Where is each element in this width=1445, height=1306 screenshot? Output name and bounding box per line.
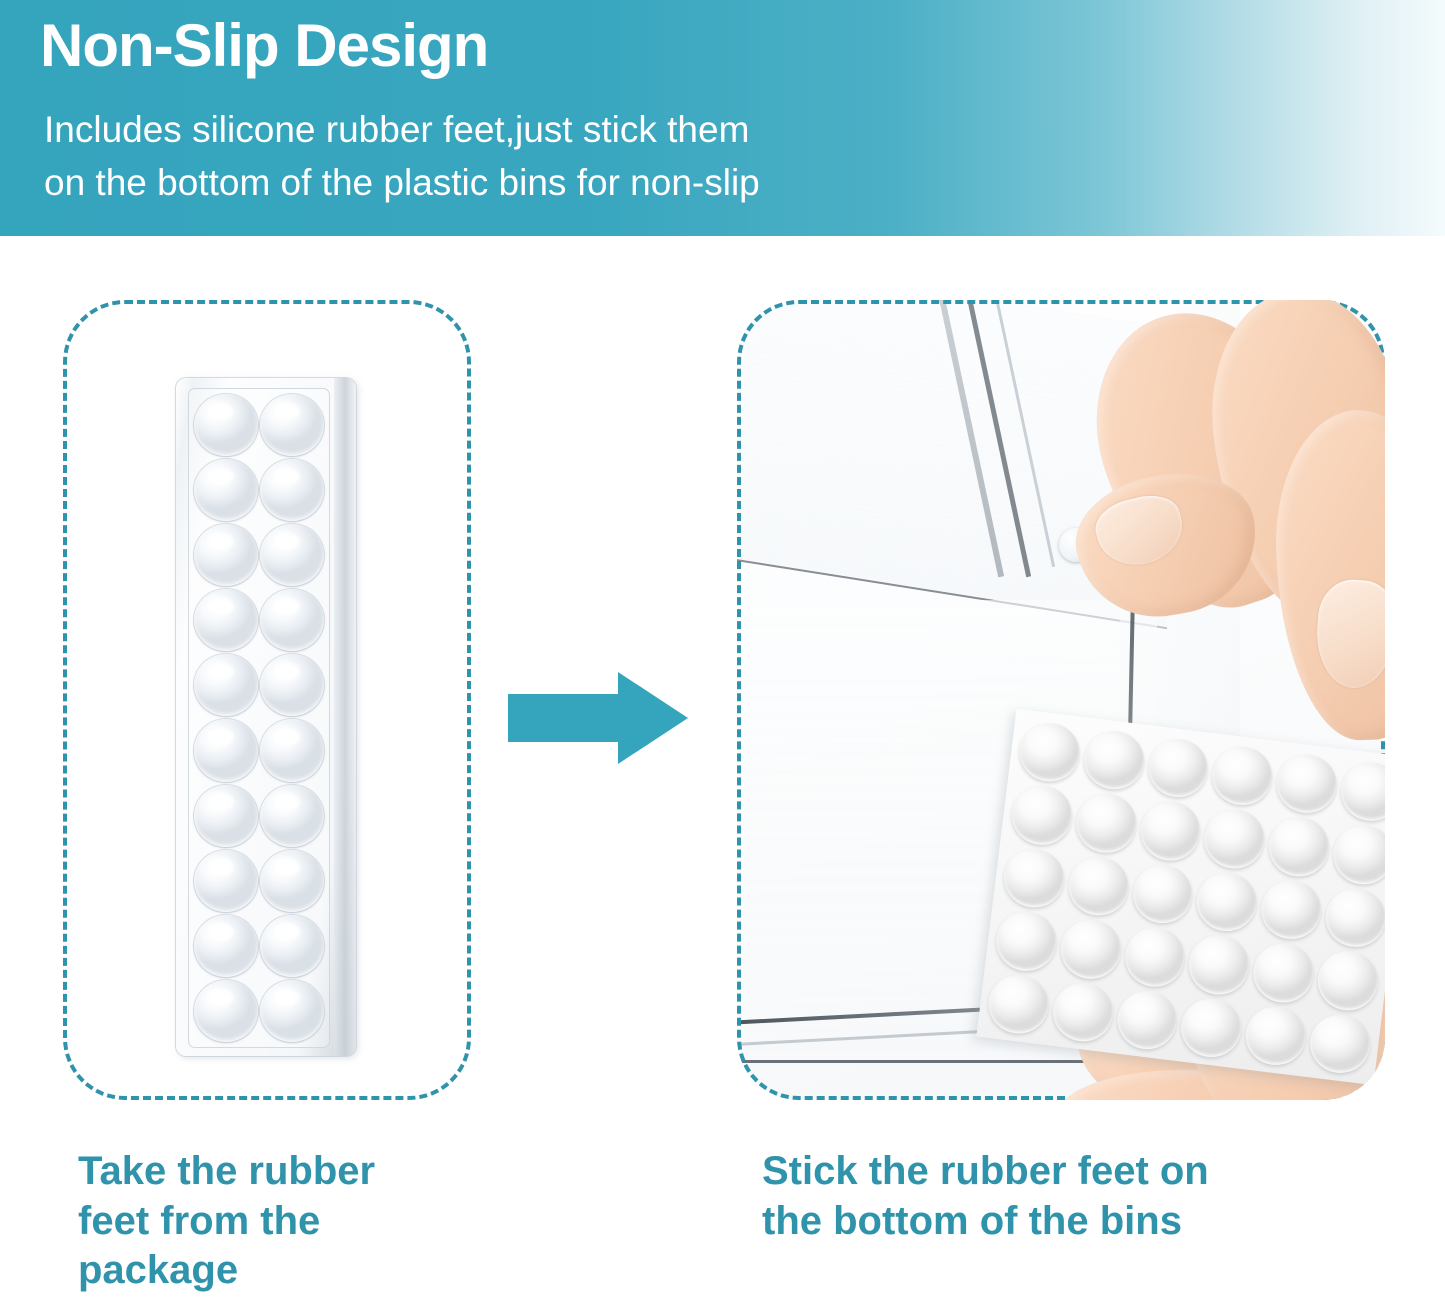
page-title: Non-Slip Design [40,14,488,77]
rubber-foot-bump [1186,932,1253,997]
rubber-foot [194,589,258,651]
rubber-feet-grid [194,394,324,1042]
rubber-foot-bump [1001,846,1067,911]
rubber-foot [260,524,324,586]
rubber-foot [194,785,258,847]
rubber-foot-bump [1050,979,1117,1044]
rubber-foot [194,654,258,716]
step-2-caption: Stick the rubber feet on the bottom of t… [762,1147,1402,1246]
rubber-foot-bump [1338,759,1385,824]
header-subtitle-line-2: on the bottom of the plastic bins for no… [44,157,760,210]
rubber-foot-bump [1008,783,1075,848]
rubber-feet-sheet-grid [985,720,1385,1076]
rubber-foot-bump [993,909,1060,974]
rubber-foot-bump [1322,885,1385,950]
rubber-foot-bump [1274,751,1340,816]
product-infographic: Non-Slip Design Includes silicone rubber… [0,0,1445,1306]
rubber-foot [194,915,258,977]
rubber-foot-bump [1122,924,1189,989]
header-banner: Non-Slip Design Includes silicone rubber… [0,0,1445,236]
rubber-foot-bump [985,971,1052,1036]
rubber-foot-bump [1178,995,1245,1060]
rubber-foot [194,524,258,586]
rubber-foot-bump [1114,987,1181,1052]
rubber-foot [260,394,324,456]
rubber-foot-bump [1250,940,1317,1005]
rubber-foot-bump [1315,948,1382,1013]
step-1-caption-line-3: package [78,1246,498,1296]
rubber-foot [194,850,258,912]
rubber-foot [260,915,324,977]
rubber-foot-bump [1209,743,1276,808]
rubber-foot [194,394,258,456]
rubber-foot [260,459,324,521]
rubber-foot [260,850,324,912]
step-2-caption-line-2: the bottom of the bins [762,1197,1402,1247]
step-1-caption-line-2: feet from the [78,1197,498,1247]
rubber-foot [260,719,324,781]
header-subtitle: Includes silicone rubber feet,just stick… [44,104,760,209]
rubber-foot-bump [1073,791,1140,856]
rubber-foot [260,654,324,716]
rubber-foot [260,589,324,651]
rubber-foot-bump [1330,822,1385,887]
rubber-foot [194,719,258,781]
rubber-foot [260,785,324,847]
rubber-foot-bump [1057,916,1124,981]
rubber-foot-bump [1129,861,1195,926]
rubber-foot [260,980,324,1042]
rubber-foot-bump [1307,1011,1374,1076]
step-2-caption-line-1: Stick the rubber feet on [762,1147,1402,1197]
rubber-foot-bump [1065,854,1131,919]
rubber-feet-sheet [976,709,1385,1085]
rubber-foot [194,980,258,1042]
step-1-caption: Take the rubber feet from the package [78,1147,498,1296]
rubber-foot-bump [1194,869,1261,934]
rubber-foot-bump [1016,720,1082,785]
step-1-caption-line-1: Take the rubber [78,1147,498,1197]
rubber-foot-bump [1137,798,1204,863]
rubber-foot-bump [1258,877,1324,942]
rubber-foot-bump [1266,814,1333,879]
rubber-foot-bump [1243,1003,1310,1068]
header-subtitle-line-1: Includes silicone rubber feet,just stick… [44,104,760,157]
rubber-foot-bump [1202,806,1269,871]
rubber-foot [194,459,258,521]
rubber-foot-bump [1081,728,1147,793]
rubber-foot-bump [1145,736,1211,801]
arrow-right-icon [508,672,688,764]
